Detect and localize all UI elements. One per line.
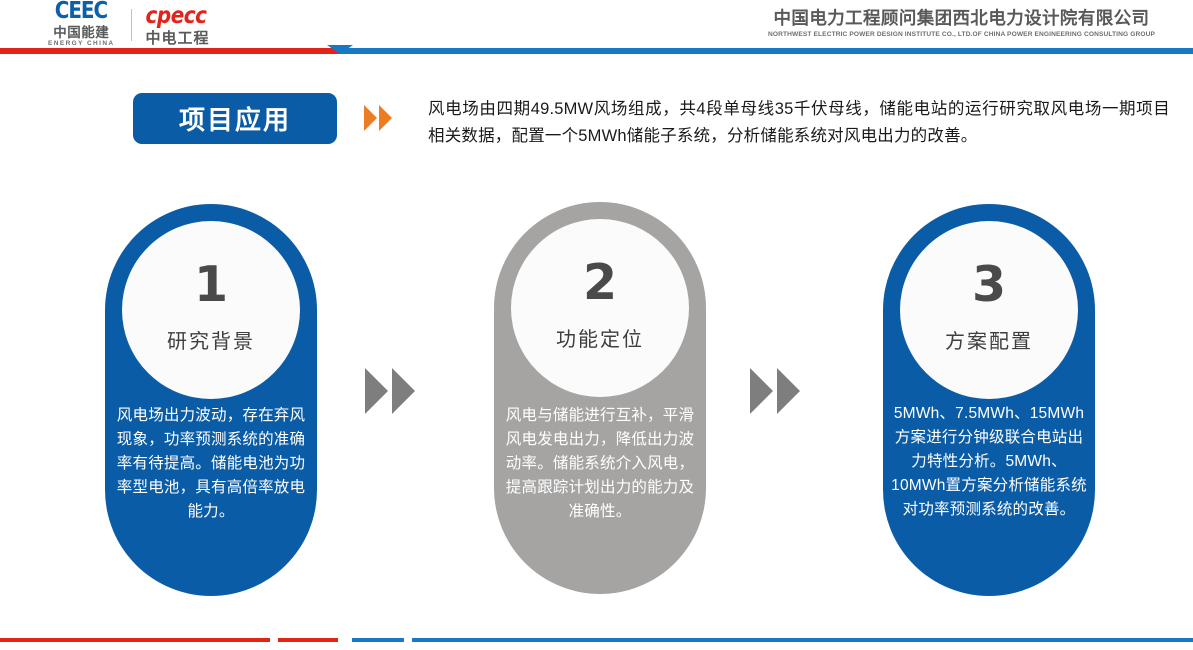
step-number-3: 3	[972, 260, 1006, 309]
chevron-right-icon	[777, 368, 800, 414]
chevron-right-icon	[392, 368, 415, 414]
organization-name: 中国电力工程顾问集团西北电力设计院有限公司 NORTHWEST ELECTRIC…	[768, 8, 1155, 38]
step-card-2: 2 功能定位 风电与储能进行互补，平滑风电发电出力，降低出力波动率。储能系统介入…	[494, 202, 706, 594]
energy-china-logo: CEEC 中国能建 ENERGY CHINA	[48, 2, 115, 48]
cpecc-name-cn: 中电工程	[146, 31, 210, 46]
section-title-badge: 项目应用	[133, 93, 337, 144]
chevron-right-icon	[364, 105, 377, 131]
logo-divider	[131, 9, 132, 41]
step-arrow-1-to-2-icon	[365, 368, 415, 414]
step-body-1: 风电场出力波动，存在弃风现象，功率预测系统的准确率有待提高。储能电池为功率型电池…	[113, 404, 309, 524]
header-rule	[0, 48, 1193, 54]
step-heading-3: 方案配置	[945, 325, 1033, 354]
cpecc-wordmark-icon: cpecc	[146, 3, 210, 26]
header-rule-red	[0, 48, 341, 54]
step-card-3: 3 方案配置 5MWh、7.5MWh、15MWh方案进行分钟级联合电站出力特性分…	[883, 204, 1095, 596]
organization-name-cn: 中国电力工程顾问集团西北电力设计院有限公司	[768, 8, 1155, 28]
chevron-right-icon	[365, 368, 388, 414]
step-body-3: 5MWh、7.5MWh、15MWh方案进行分钟级联合电站出力特性分析。5MWh、…	[891, 402, 1087, 522]
step-heading-1: 研究背景	[167, 325, 255, 354]
energy-china-name-cn: 中国能建	[53, 26, 109, 40]
step-heading-2: 功能定位	[556, 323, 644, 352]
header-rule-notch-icon	[327, 45, 353, 54]
step-number-2: 2	[583, 258, 617, 307]
footer-rule-red-2	[278, 638, 338, 642]
step-circle-2: 2 功能定位	[511, 219, 689, 397]
header-rule-blue	[341, 48, 1193, 54]
title-chevron-group-icon	[364, 105, 392, 131]
footer-rule-red-1	[0, 638, 270, 642]
step-arrow-2-to-3-icon	[750, 368, 800, 414]
step-number-1: 1	[194, 260, 228, 309]
footer-rule-blue-1	[352, 638, 404, 642]
step-body-2: 风电与储能进行互补，平滑风电发电出力，降低出力波动率。储能系统介入风电，提高跟踪…	[502, 404, 698, 524]
step-circle-3: 3 方案配置	[900, 221, 1078, 399]
organization-name-en: NORTHWEST ELECTRIC POWER DESIGN INSTITUT…	[768, 31, 1155, 38]
section-title-text: 项目应用	[179, 100, 291, 137]
footer-rule-blue-2	[412, 638, 1193, 642]
chevron-right-icon	[750, 368, 773, 414]
step-card-1: 1 研究背景 风电场出力波动，存在弃风现象，功率预测系统的准确率有待提高。储能电…	[105, 204, 317, 596]
energy-china-wordmark-icon: CEEC	[55, 0, 107, 23]
page-header: CEEC 中国能建 ENERGY CHINA cpecc 中电工程 中国电力工程…	[0, 0, 1193, 48]
step-circle-1: 1 研究背景	[122, 221, 300, 399]
chevron-right-icon	[379, 105, 392, 131]
footer-rule	[0, 638, 1193, 642]
energy-china-name-en: ENERGY CHINA	[48, 41, 115, 48]
section-intro-text: 风电场由四期49.5MW风场组成，共4段单母线35千伏母线，储能电站的运行研究取…	[428, 96, 1170, 149]
logo-lockup: CEEC 中国能建 ENERGY CHINA cpecc 中电工程	[48, 4, 210, 46]
cpecc-logo: cpecc 中电工程	[146, 5, 210, 46]
